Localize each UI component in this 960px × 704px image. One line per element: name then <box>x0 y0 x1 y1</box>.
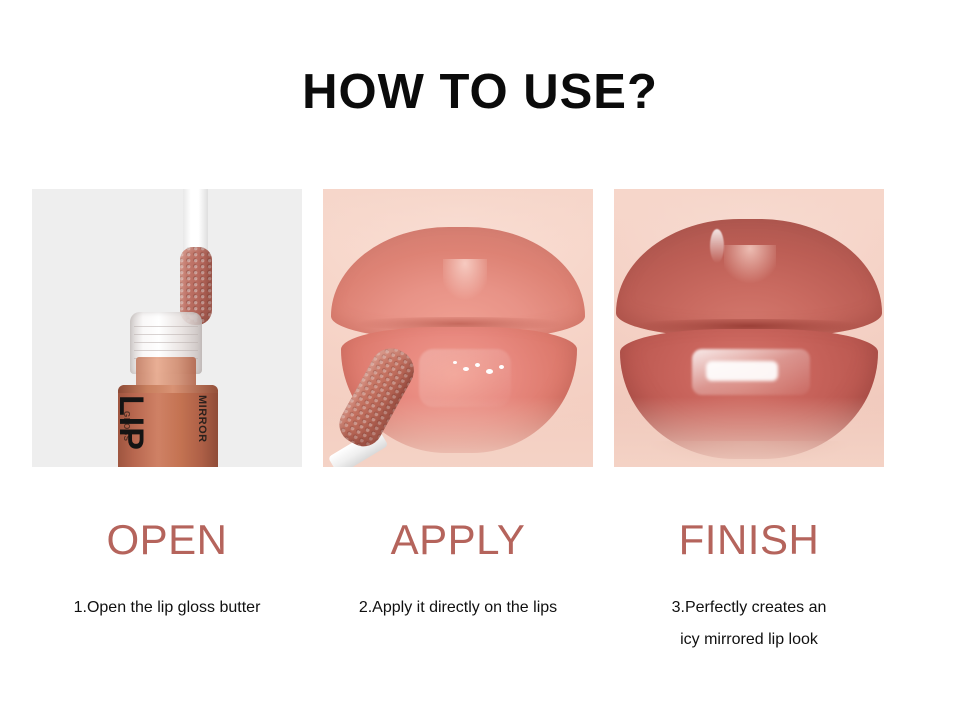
page-title: HOW TO USE? <box>0 68 960 117</box>
step-heading-open: OPEN <box>32 518 302 562</box>
tube-label-main: LIP <box>111 395 150 451</box>
gloss-sparkle-icon <box>499 365 504 369</box>
step-col-open: OPEN <box>32 518 302 562</box>
step-caption-apply: 2.Apply it directly on the lips <box>323 592 593 656</box>
mirror-gloss-core <box>706 361 778 381</box>
caption-line: 3.Perfectly creates an <box>614 592 884 624</box>
step-image-open: GLOSS LIP MIRROR <box>32 189 302 467</box>
step-col-apply: APPLY <box>323 518 593 562</box>
step-caption-finish: 3.Perfectly creates an icy mirrored lip … <box>614 592 884 656</box>
caption-line: icy mirrored lip look <box>614 624 884 656</box>
gloss-sparkle-icon <box>453 361 457 364</box>
step-image-finish <box>614 189 884 467</box>
step-caption-open: 1.Open the lip gloss butter <box>32 592 302 656</box>
upper-lip-shine <box>710 229 724 263</box>
caption-line: 2.Apply it directly on the lips <box>323 592 593 624</box>
caption-line: 1.Open the lip gloss butter <box>32 592 302 624</box>
step-heading-finish: FINISH <box>614 518 884 562</box>
tube-label-secondary: MIRROR <box>196 395 208 443</box>
cupids-bow-highlight <box>724 245 776 289</box>
gloss-sparkle-icon <box>475 363 480 367</box>
how-to-use-page: HOW TO USE? GLOSS LIP MIRROR <box>0 0 960 704</box>
gloss-sparkle-icon <box>463 367 469 371</box>
step-col-finish: FINISH <box>614 518 884 562</box>
step-image-apply <box>323 189 593 467</box>
gloss-sparkle-icon <box>486 369 493 374</box>
tube-rim-shape <box>118 385 218 393</box>
cupids-bow-highlight <box>443 259 487 305</box>
step-headings-row: OPEN APPLY FINISH <box>32 518 884 562</box>
step-images-row: GLOSS LIP MIRROR <box>32 189 884 467</box>
step-heading-apply: APPLY <box>323 518 593 562</box>
step-captions-row: 1.Open the lip gloss butter 2.Apply it d… <box>32 592 884 656</box>
skin-shadow-bottom <box>614 397 884 467</box>
